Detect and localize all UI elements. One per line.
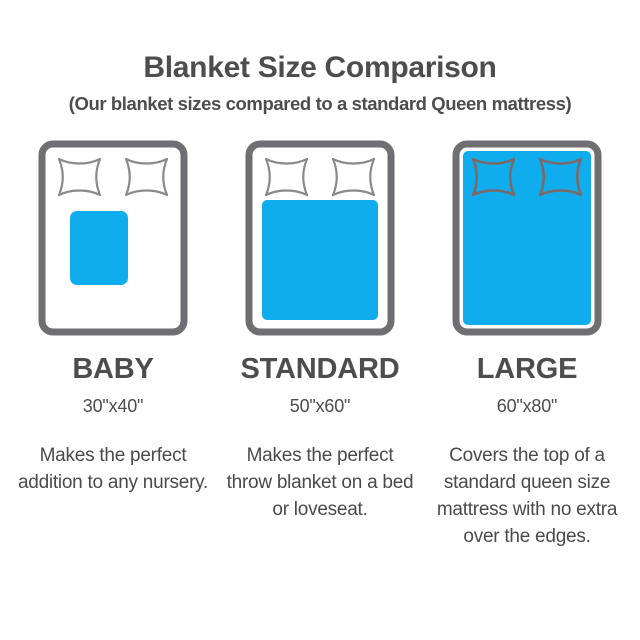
header: Blanket Size Comparison (Our blanket siz… xyxy=(0,52,640,115)
size-label-baby: BABY xyxy=(72,355,153,384)
blanket-overlay-large xyxy=(463,151,591,325)
large-bed-diagram xyxy=(452,140,602,336)
blanket-overlay-baby xyxy=(70,211,128,285)
size-column-standard: STANDARD 50"x60" Makes the perfect throw… xyxy=(221,140,419,524)
standard-bed-illustration xyxy=(221,140,419,345)
size-comparison-columns: BABY 30"x40" Makes the perfect addition … xyxy=(0,140,640,551)
large-bed-illustration xyxy=(428,140,626,345)
size-description-standard: Makes the perfect throw blanket on a bed… xyxy=(223,443,418,524)
baby-bed-illustration xyxy=(14,140,212,345)
blanket-overlay-standard xyxy=(262,200,378,320)
infographic-root: Blanket Size Comparison (Our blanket siz… xyxy=(0,0,640,640)
size-dimensions-baby: 30"x40" xyxy=(83,397,143,415)
size-description-baby: Makes the perfect addition to any nurser… xyxy=(16,443,211,497)
baby-bed-diagram xyxy=(38,140,188,336)
standard-bed-diagram xyxy=(245,140,395,336)
size-column-large: LARGE 60"x80" Covers the top of a standa… xyxy=(428,140,626,551)
size-column-baby: BABY 30"x40" Makes the perfect addition … xyxy=(14,140,212,497)
pillow-right-icon xyxy=(126,159,167,195)
size-dimensions-standard: 50"x60" xyxy=(290,397,350,415)
pillow-right-icon xyxy=(333,159,374,195)
page-subtitle: (Our blanket sizes compared to a standar… xyxy=(0,93,640,115)
size-label-standard: STANDARD xyxy=(241,355,400,384)
size-label-large: LARGE xyxy=(477,355,578,384)
size-description-large: Covers the top of a standard queen size … xyxy=(430,443,625,551)
size-dimensions-large: 60"x80" xyxy=(497,397,557,415)
pillow-left-icon xyxy=(59,159,100,195)
page-title: Blanket Size Comparison xyxy=(0,52,640,84)
pillow-left-icon xyxy=(266,159,307,195)
